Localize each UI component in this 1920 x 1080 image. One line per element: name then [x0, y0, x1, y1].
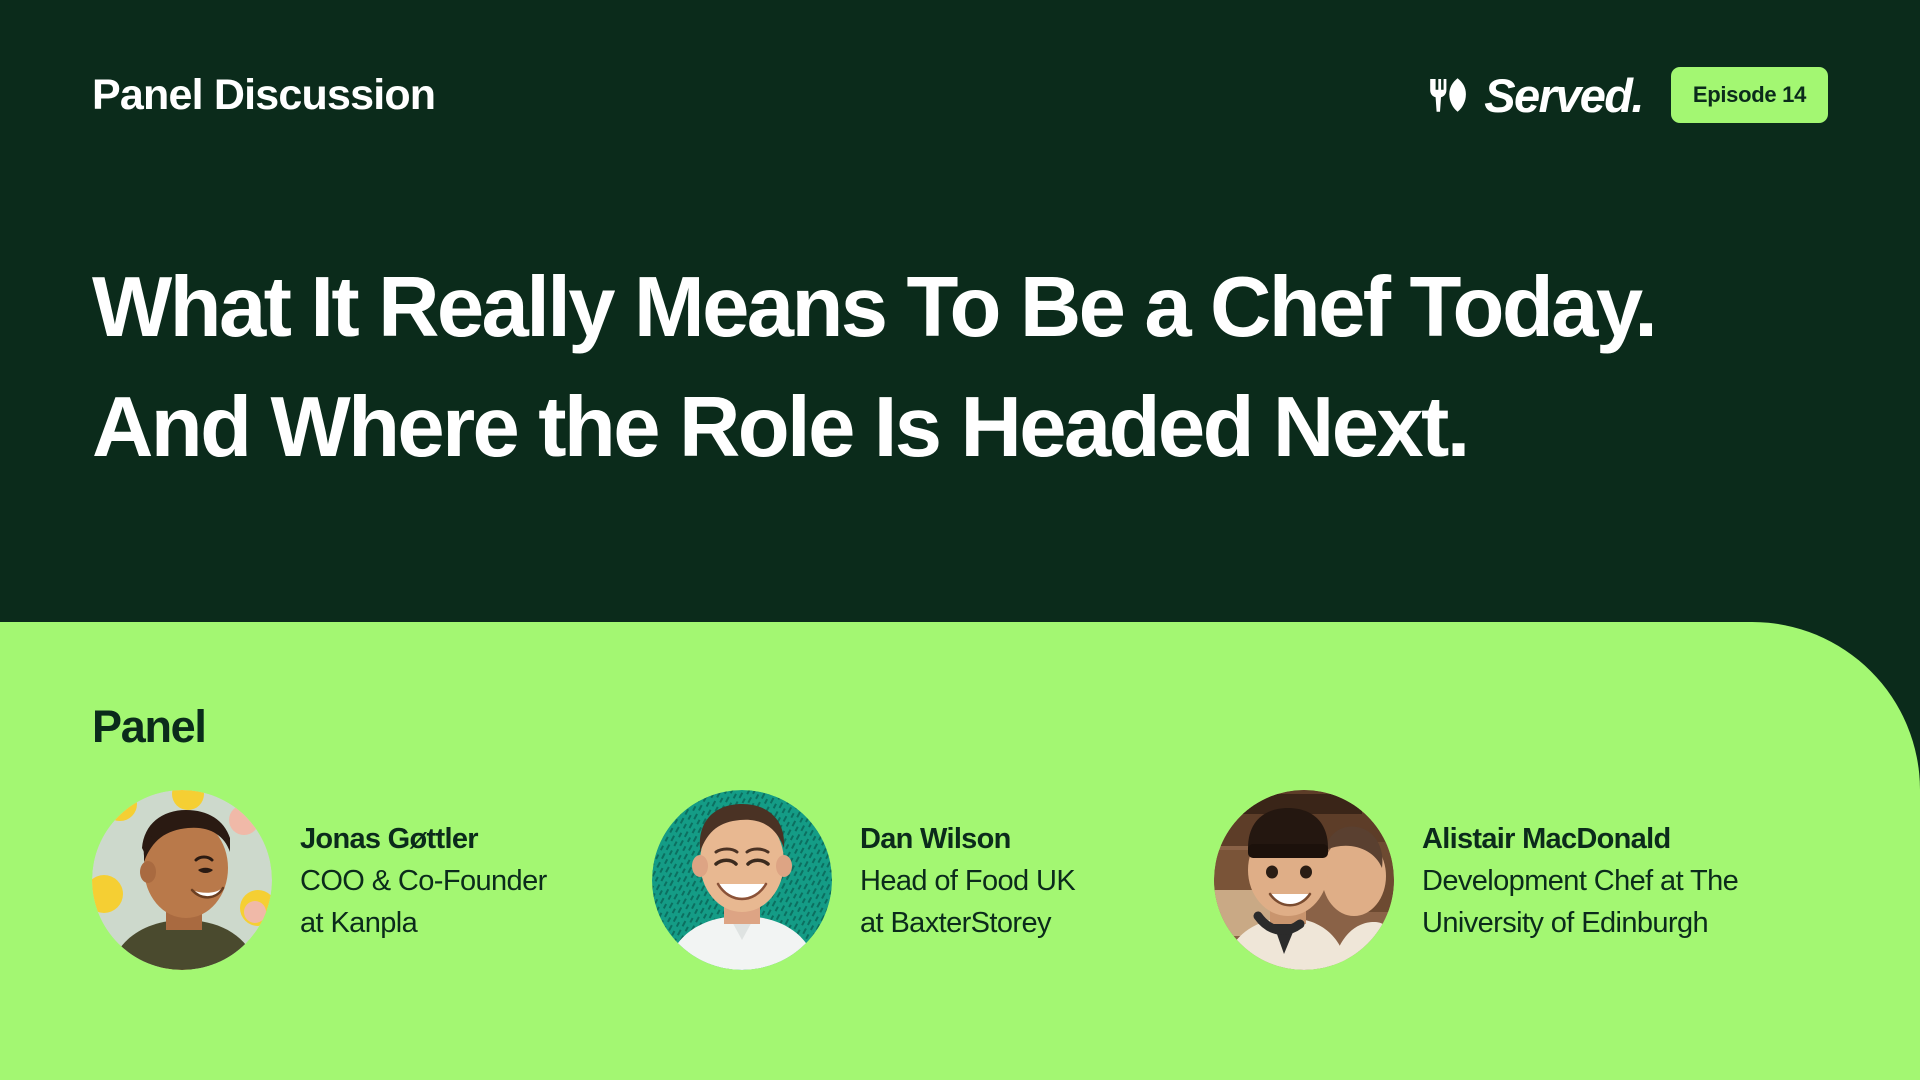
- panelist-item: Jonas Gøttler COO & Co-Founder at Kanpla: [92, 790, 652, 970]
- fork-and-leaf-icon: [1427, 74, 1469, 116]
- panelist-name: Jonas Gøttler: [300, 818, 547, 860]
- panelist-role: Head of Food UK at BaxterStorey: [860, 860, 1075, 944]
- eyebrow-label: Panel Discussion: [92, 74, 435, 117]
- panelist-list: Jonas Gøttler COO & Co-Founder at Kanpla: [0, 790, 1920, 970]
- slide-root: Panel Discussion Served. Episode 14 What…: [0, 0, 1920, 1080]
- avatar-jonas-gottler: [92, 790, 272, 970]
- panelist-text: Jonas Gøttler COO & Co-Founder at Kanpla: [300, 816, 547, 944]
- panelist-role-line-1: Development Chef at The: [1422, 860, 1738, 902]
- brand-lockup: Served.: [1427, 72, 1643, 119]
- panelist-item: Alistair MacDonald Development Chef at T…: [1214, 790, 1914, 970]
- panelist-text: Alistair MacDonald Development Chef at T…: [1422, 816, 1738, 944]
- panel-section: Panel: [0, 622, 1920, 1080]
- panelist-text: Dan Wilson Head of Food UK at BaxterStor…: [860, 816, 1075, 944]
- episode-badge: Episode 14: [1671, 67, 1828, 123]
- panelist-name: Dan Wilson: [860, 818, 1075, 860]
- avatar-dan-wilson: [652, 790, 832, 970]
- headline-line-1: What It Really Means To Be a Chef Today.: [92, 248, 1852, 368]
- panelist-role: COO & Co-Founder at Kanpla: [300, 860, 547, 944]
- panelist-role-line-2: University of Edinburgh: [1422, 902, 1738, 944]
- panelist-role-line-2: at BaxterStorey: [860, 902, 1075, 944]
- panelist-name: Alistair MacDonald: [1422, 818, 1738, 860]
- panelist-role: Development Chef at The University of Ed…: [1422, 860, 1738, 944]
- brand-wordmark: Served.: [1484, 72, 1643, 119]
- page-title: What It Really Means To Be a Chef Today.…: [92, 248, 1852, 488]
- brand-cluster: Served. Episode 14: [1427, 67, 1828, 123]
- panelist-role-line-1: COO & Co-Founder: [300, 860, 547, 902]
- top-bar: Panel Discussion Served. Episode 14: [0, 0, 1920, 190]
- panel-section-title: Panel: [92, 704, 206, 749]
- panelist-role-line-1: Head of Food UK: [860, 860, 1075, 902]
- panelist-role-line-2: at Kanpla: [300, 902, 547, 944]
- avatar-alistair-macdonald: [1214, 790, 1394, 970]
- headline-line-2: And Where the Role Is Headed Next.: [92, 368, 1852, 488]
- panelist-item: Dan Wilson Head of Food UK at BaxterStor…: [652, 790, 1214, 970]
